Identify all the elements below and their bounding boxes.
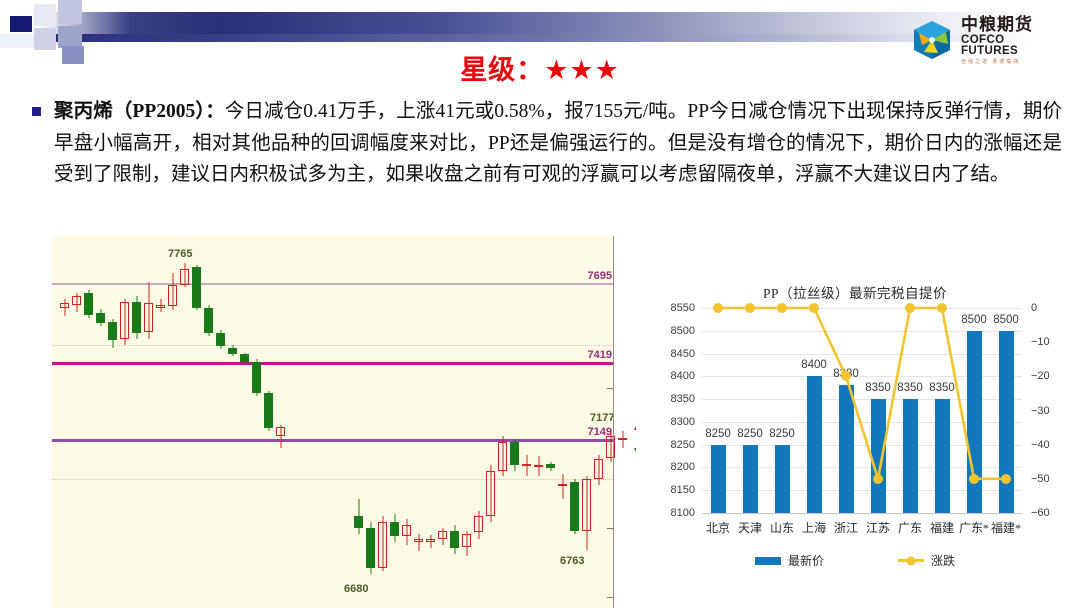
price-bar-chart: PP（拉丝级）最新完税自提价 8100815082008250830083508… (636, 280, 1074, 598)
x-axis-label-广东: 广东 (898, 519, 922, 536)
y-axis-label-right: −60 (1031, 507, 1050, 519)
bar-chart-title: PP（拉丝级）最新完税自提价 (636, 282, 1074, 302)
table-row (204, 236, 213, 608)
legend-bar-swatch-icon (755, 557, 781, 565)
star-rating: 星级：★★★ (0, 48, 1080, 87)
banner-square-a (10, 16, 32, 32)
table-row (192, 236, 201, 608)
y-axis-label-left: 8100 (671, 507, 695, 519)
banner-square-b (34, 4, 56, 26)
x-axis-label-江苏: 江苏 (866, 519, 890, 536)
candle-body (96, 313, 105, 323)
candle-body (618, 438, 627, 440)
table-row (354, 236, 363, 608)
candle-body (204, 308, 213, 334)
y-axis-label-right: −20 (1031, 370, 1050, 382)
table-row (276, 236, 285, 608)
y-axis-label-left: 8150 (671, 484, 695, 496)
change-marker-广东 (905, 303, 915, 313)
candle-body (168, 285, 177, 306)
legend-item-change: 涨跌 (898, 552, 955, 569)
x-axis-label-山东: 山东 (770, 519, 794, 536)
candlestick-right-axis (613, 236, 614, 608)
candle-body (462, 534, 471, 548)
table-row (426, 236, 435, 608)
table-row (558, 236, 567, 608)
change-marker-山东 (777, 303, 787, 313)
candle-body (240, 354, 249, 363)
bar-chart-legend: 最新价 涨跌 (636, 552, 1074, 569)
candle-body (366, 528, 375, 568)
candle-body (216, 333, 225, 346)
candlestick-chart: 7695741971497765668067637177 (52, 236, 614, 608)
candle-wick (418, 534, 419, 551)
change-marker-广东* (969, 474, 979, 484)
table-row (72, 236, 81, 608)
candle-body (414, 539, 423, 542)
table-row (216, 236, 225, 608)
change-marker-上海 (809, 303, 819, 313)
candle-body (228, 348, 237, 354)
commentary-text: 聚丙烯（PP2005）：今日减仓0.41万手，上涨41元或0.58%，报7155… (54, 96, 1062, 191)
banner-square-e (58, 26, 82, 48)
y-axis-label-right: −30 (1031, 405, 1050, 417)
candle-body (474, 516, 483, 532)
y-axis-label-right: 0 (1031, 302, 1037, 314)
candle-body (390, 522, 399, 536)
change-marker-天津 (745, 303, 755, 313)
candle-body (84, 293, 93, 314)
legend-item-latest-price: 最新价 (755, 552, 824, 569)
table-row (60, 236, 69, 608)
candle-body (486, 471, 495, 517)
star-rating-label: 星级： (460, 55, 544, 85)
y-axis-label-left: 8200 (671, 461, 695, 473)
x-axis-label-广东*: 广东* (959, 519, 989, 536)
candle-body (378, 522, 387, 568)
candle-body (156, 305, 165, 308)
banner-square-d (58, 0, 82, 24)
x-axis-label-福建*: 福建* (991, 519, 1021, 536)
change-marker-北京 (713, 303, 723, 313)
table-row (486, 236, 495, 608)
banner-square-c (34, 28, 56, 50)
candle-body (546, 464, 555, 467)
y-axis-label-left: 8300 (671, 416, 695, 428)
candle-body (426, 539, 435, 542)
candle-body (438, 531, 447, 540)
candle-body (276, 427, 285, 436)
candlestick-annotation-6680: 6680 (344, 583, 368, 595)
candle-wick (562, 474, 563, 500)
commentary-paragraph: 聚丙烯（PP2005）：今日减仓0.41万手，上涨41元或0.58%，报7155… (32, 96, 1062, 191)
y-axis-label-left: 8400 (671, 370, 695, 382)
legend-label-latest-price: 最新价 (788, 552, 824, 569)
table-row (168, 236, 177, 608)
table-row (156, 236, 165, 608)
legend-label-change: 涨跌 (931, 552, 955, 569)
table-row (240, 236, 249, 608)
table-row (252, 236, 261, 608)
banner-gradient-bar (40, 12, 1040, 34)
table-row (546, 236, 555, 608)
table-row (450, 236, 459, 608)
logo-chinese-name: 中粮期货 (961, 16, 1060, 33)
x-axis-label-上海: 上海 (802, 519, 826, 536)
candle-body (108, 322, 117, 341)
candlestick-annotation-7765: 7765 (168, 248, 192, 260)
candle-body (522, 464, 531, 466)
candle-body (354, 516, 363, 527)
change-line-path (718, 308, 1006, 479)
table-row (144, 236, 153, 608)
y-axis-label-right: −50 (1031, 473, 1050, 485)
x-axis-label-北京: 北京 (706, 519, 730, 536)
y-axis-label-right: −10 (1031, 336, 1050, 348)
table-row (84, 236, 93, 608)
candle-body (60, 303, 69, 307)
table-row (120, 236, 129, 608)
candle-body (252, 362, 261, 393)
change-marker-福建 (937, 303, 947, 313)
y-axis-label-left: 8500 (671, 325, 695, 337)
candlestick-annotation-6763: 6763 (560, 555, 584, 567)
table-row (462, 236, 471, 608)
y-axis-label-left: 8250 (671, 439, 695, 451)
table-row (378, 236, 387, 608)
change-marker-江苏 (873, 474, 883, 484)
candle-body (180, 269, 189, 285)
bullet-square-icon (32, 107, 41, 116)
x-axis-label-天津: 天津 (738, 519, 762, 536)
candle-body (450, 531, 459, 548)
change-marker-浙江 (841, 371, 851, 381)
legend-line-swatch-icon (898, 559, 924, 562)
y-axis-label-right: −40 (1031, 439, 1050, 451)
table-row (474, 236, 483, 608)
candle-body (570, 482, 579, 531)
banner-square-g (0, 34, 34, 48)
table-row (570, 236, 579, 608)
candle-body (402, 525, 411, 536)
x-axis-label-福建: 福建 (930, 519, 954, 536)
candle-body (120, 302, 129, 339)
bar-chart-gridline (702, 513, 1022, 514)
candle-body (510, 442, 519, 465)
table-row (180, 236, 189, 608)
x-axis-label-浙江: 浙江 (834, 519, 858, 536)
table-row (264, 236, 273, 608)
change-marker-福建* (1001, 474, 1011, 484)
candle-wick (64, 299, 65, 316)
table-row (96, 236, 105, 608)
candle-body (594, 459, 603, 479)
star-rating-stars: ★★★ (544, 55, 620, 85)
table-row (228, 236, 237, 608)
candle-body (144, 303, 153, 332)
candle-body (498, 442, 507, 471)
table-row (390, 236, 399, 608)
table-row (618, 236, 627, 608)
table-row (510, 236, 519, 608)
candle-body (534, 465, 543, 467)
table-row (366, 236, 375, 608)
candle-body (132, 302, 141, 333)
candlestick-plot-area: 7695741971497765668067637177 (52, 236, 614, 608)
candle-body (72, 296, 81, 305)
table-row (402, 236, 411, 608)
commentary-title: 聚丙烯（PP2005）： (54, 101, 225, 122)
table-row (534, 236, 543, 608)
y-axis-label-left: 8450 (671, 348, 695, 360)
candlestick-annotation-7177: 7177 (590, 412, 614, 424)
y-axis-label-left: 8350 (671, 393, 695, 405)
candle-body (192, 267, 201, 307)
candle-body (582, 479, 591, 531)
table-row (132, 236, 141, 608)
candle-body (264, 393, 273, 428)
bar-chart-plot-area: 8100815082008250830083508400845085008550… (702, 308, 1022, 513)
candle-body (558, 484, 567, 486)
table-row (522, 236, 531, 608)
table-row (438, 236, 447, 608)
table-row (414, 236, 423, 608)
table-row (498, 236, 507, 608)
y-axis-label-left: 8550 (671, 302, 695, 314)
banner-gradient-accent (40, 34, 1040, 42)
table-row (108, 236, 117, 608)
